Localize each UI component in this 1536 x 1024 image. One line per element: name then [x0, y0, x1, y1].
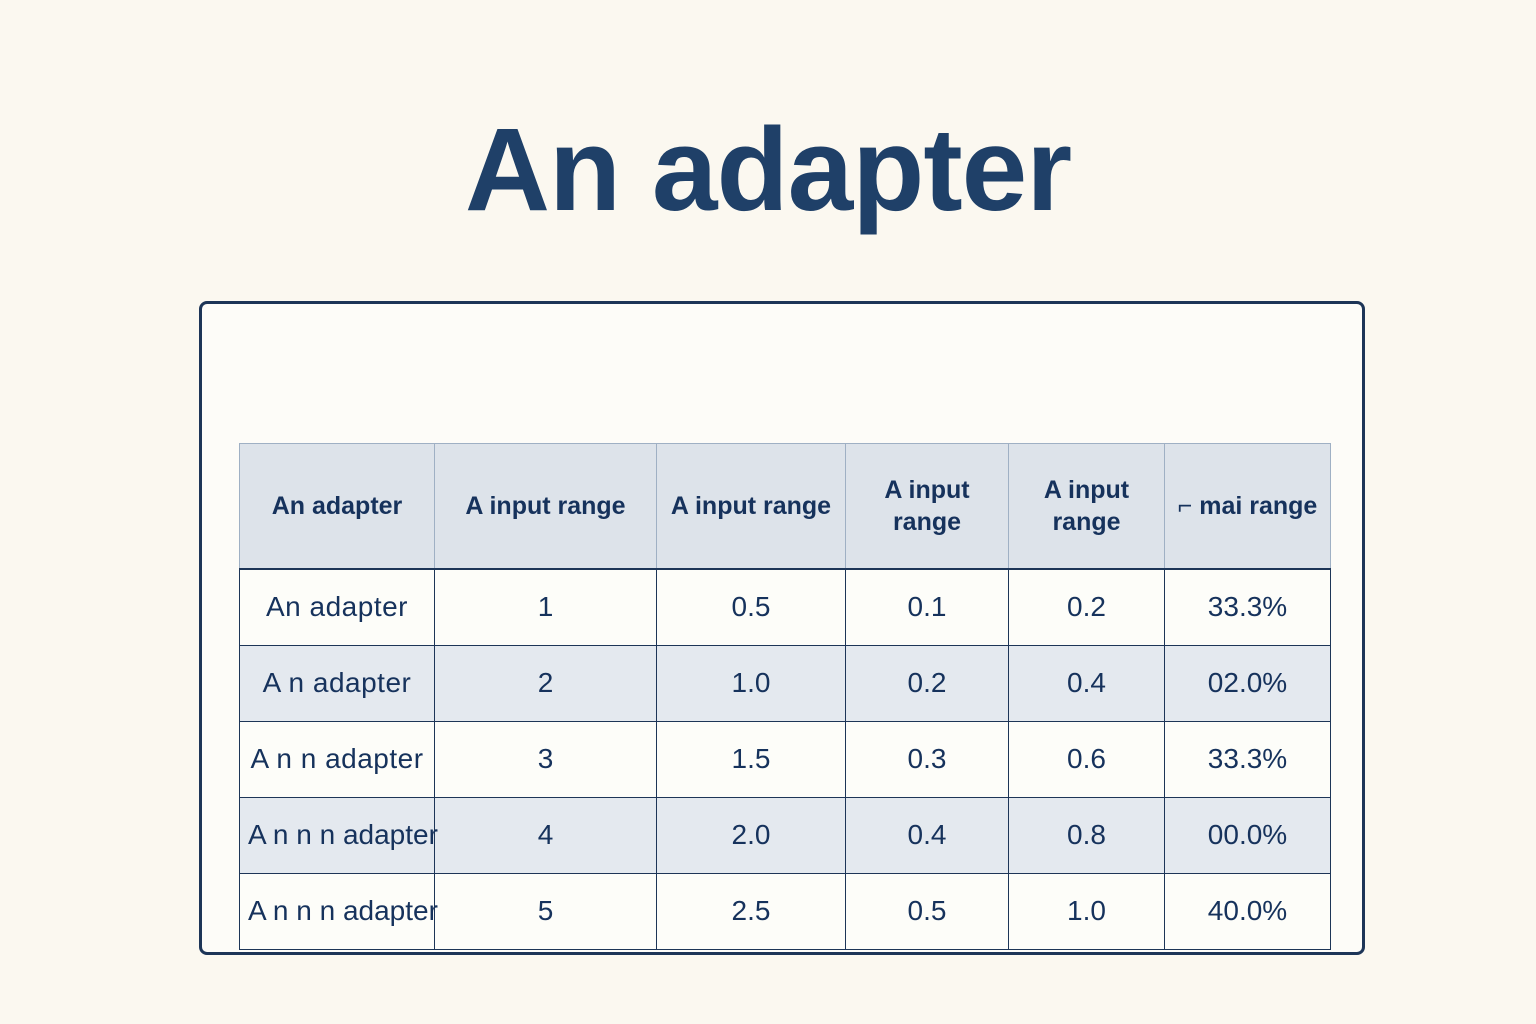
cell-label: An adapter [240, 569, 435, 646]
cell-label: A n n n adapter [240, 874, 435, 950]
table-row: A n n adapter 3 1.5 0.3 0.6 33.3% [240, 722, 1331, 798]
cell-percent: 40.0% [1165, 874, 1331, 950]
table-row: A n adapter 2 1.0 0.2 0.4 02.0% [240, 646, 1331, 722]
cell-index: 3 [435, 722, 657, 798]
column-header-5[interactable]: ⌐ mai range [1165, 444, 1331, 570]
cell-value-a: 1.0 [657, 646, 846, 722]
cell-index: 4 [435, 798, 657, 874]
table-header-row: An adapter A input range A input range A… [240, 444, 1331, 570]
cell-index: 1 [435, 569, 657, 646]
cell-value-a: 0.5 [657, 569, 846, 646]
page-title: An adapter [0, 104, 1536, 236]
cell-value-a: 2.5 [657, 874, 846, 950]
table-header: An adapter A input range A input range A… [240, 444, 1331, 570]
cell-percent: 02.0% [1165, 646, 1331, 722]
column-header-3[interactable]: A input range [846, 444, 1009, 570]
cell-value-a: 1.5 [657, 722, 846, 798]
cell-percent: 33.3% [1165, 569, 1331, 646]
table-row: A n n n adapter 5 2.5 0.5 1.0 40.0% [240, 874, 1331, 950]
table-row: A n n n adapter 4 2.0 0.4 0.8 00.0% [240, 798, 1331, 874]
column-header-4[interactable]: A input range [1009, 444, 1165, 570]
cell-value-b: 0.5 [846, 874, 1009, 950]
cell-index: 2 [435, 646, 657, 722]
column-header-2[interactable]: A input range [657, 444, 846, 570]
column-header-0[interactable]: An adapter [240, 444, 435, 570]
cell-value-b: 0.2 [846, 646, 1009, 722]
cell-index: 5 [435, 874, 657, 950]
data-table-container: An adapter A input range A input range A… [239, 443, 1330, 950]
data-table: An adapter A input range A input range A… [239, 443, 1331, 950]
cell-percent: 33.3% [1165, 722, 1331, 798]
cell-value-b: 0.4 [846, 798, 1009, 874]
cell-label: A n adapter [240, 646, 435, 722]
table-body: An adapter 1 0.5 0.1 0.2 33.3% A n adapt… [240, 569, 1331, 950]
cell-value-c: 0.8 [1009, 798, 1165, 874]
cell-value-c: 0.4 [1009, 646, 1165, 722]
cell-value-c: 0.6 [1009, 722, 1165, 798]
cell-label: A n n adapter [240, 722, 435, 798]
cell-value-b: 0.1 [846, 569, 1009, 646]
cell-value-c: 0.2 [1009, 569, 1165, 646]
cell-value-a: 2.0 [657, 798, 846, 874]
cell-value-b: 0.3 [846, 722, 1009, 798]
cell-value-c: 1.0 [1009, 874, 1165, 950]
cell-percent: 00.0% [1165, 798, 1331, 874]
column-header-1[interactable]: A input range [435, 444, 657, 570]
table-row: An adapter 1 0.5 0.1 0.2 33.3% [240, 569, 1331, 646]
cell-label: A n n n adapter [240, 798, 435, 874]
